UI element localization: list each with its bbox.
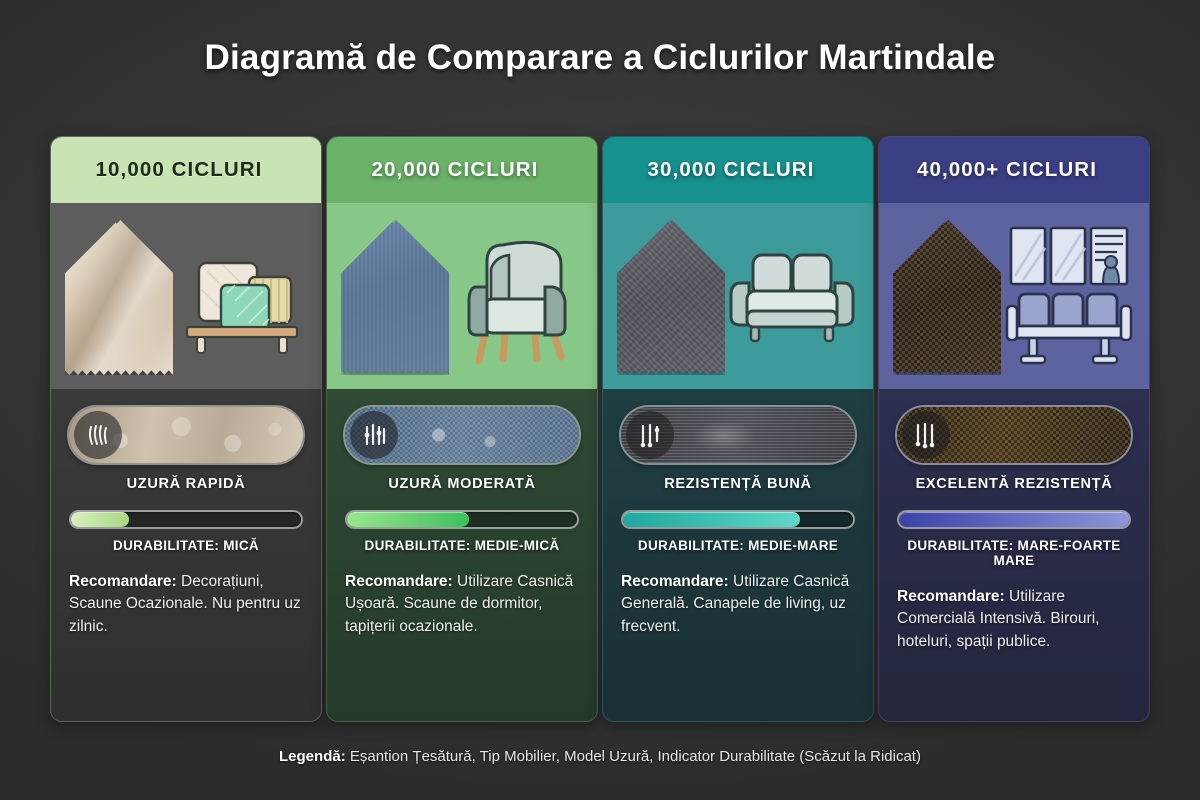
column-body-30000: REZISTENȚĂ BUNĂ DURABILITATE: MEDIE-MARE… [603,389,873,721]
wear-label: EXCELENTĂ REZISTENȚĂ [895,476,1133,492]
durability-bar-fill [347,512,469,527]
column-40000-cycles[interactable]: 40,000+ CICLURI [878,136,1150,722]
legend-text: Eșantion Țesătură, Tip Mobilier, Model U… [346,748,921,765]
wear-pattern-pill [619,405,857,465]
durability-label: DURABILITATE: MEDIE-MARE [621,538,855,553]
recommendation-prefix: Recomandare: [345,573,453,590]
comparison-columns: 10,000 CICLURI [50,136,1150,722]
durability-bar [897,510,1131,529]
column-body-40000: EXCELENTĂ REZISTENȚĂ DURABILITATE: MARE-… [879,389,1149,721]
armchair-icon [457,225,581,370]
durability-section: DURABILITATE: MARE-FOARTE MARE [879,492,1149,568]
illustration-panel-40000 [879,203,1149,389]
durability-bar-fill [899,512,1129,527]
column-header-label: 10,000 CICLURI [96,158,263,182]
durability-bar-fill [71,512,129,527]
column-header-label: 20,000 CICLURI [372,158,539,182]
durability-label: DURABILITATE: MARE-FOARTE MARE [897,538,1131,568]
illustration-panel-20000 [327,203,597,389]
decorative-pillows-icon [177,229,305,366]
wear-label: REZISTENȚĂ BUNĂ [619,476,857,492]
durability-bar-fill [623,512,800,527]
wear-label: UZURĂ MODERATĂ [343,476,581,492]
recommendation-prefix: Recomandare: [69,573,177,590]
legend-prefix: Legendă: [279,748,346,765]
illustration-panel-10000 [51,203,321,389]
legend: Legendă: Eșantion Țesătură, Tip Mobilier… [0,748,1200,765]
wear-pattern-pill [895,405,1133,465]
wear-section: EXCELENTĂ REZISTENȚĂ [879,389,1149,492]
column-body-10000: UZURĂ RAPIDĂ DURABILITATE: MICĂ Recomand… [51,389,321,721]
durability-section: DURABILITATE: MEDIE-MARE [603,492,873,553]
chevron-right-icon [868,137,874,203]
abrasion-marks-icon [902,411,950,459]
recommendation-prefix: Recomandare: [621,573,729,590]
column-header-label: 40,000+ CICLURI [917,158,1097,182]
durability-label: DURABILITATE: MEDIE-MICĂ [345,538,579,553]
column-header-30000: 30,000 CICLURI [603,137,873,203]
recommendation-text: Recomandare: Utilizare Casnică Ușoară. S… [327,553,597,654]
durability-bar [621,510,855,529]
chevron-right-icon [316,137,322,203]
recommendation-text: Recomandare: Utilizare Comercială Intens… [879,568,1149,669]
recommendation-prefix: Recomandare: [897,588,1005,605]
column-30000-cycles[interactable]: 30,000 CICLURI [602,136,874,722]
column-20000-cycles[interactable]: 20,000 CICLURI [326,136,598,722]
fabric-swatch-blue [341,219,449,375]
wear-pattern-pill [343,405,581,465]
durability-bar [69,510,303,529]
abrasion-marks-icon [626,411,674,459]
illustration-panel-30000 [603,203,873,389]
fabric-swatch-beige [65,219,173,375]
wear-section: UZURĂ MODERATĂ [327,389,597,492]
durability-bar [345,510,579,529]
durability-section: DURABILITATE: MEDIE-MICĂ [327,492,597,553]
column-header-20000: 20,000 CICLURI [327,137,597,203]
column-header-40000: 40,000+ CICLURI [879,137,1149,203]
wear-pattern-pill [67,405,305,465]
infographic-page: Diagramă de Comparare a Ciclurilor Marti… [0,0,1200,800]
fabric-swatch-charcoal [617,219,725,375]
page-title: Diagramă de Comparare a Ciclurilor Marti… [0,38,1200,78]
title-container: Diagramă de Comparare a Ciclurilor Marti… [0,38,1200,78]
column-body-20000: UZURĂ MODERATĂ DURABILITATE: MEDIE-MICĂ … [327,389,597,721]
abrasion-marks-icon [74,411,122,459]
waiting-room-seating-icon [1005,222,1133,373]
fabric-swatch-brown-woven [893,219,1001,375]
column-header-10000: 10,000 CICLURI [51,137,321,203]
wear-section: REZISTENȚĂ BUNĂ [603,389,873,492]
wear-label: UZURĂ RAPIDĂ [67,476,305,492]
chevron-right-icon [592,137,598,203]
sofa-icon [727,239,857,356]
durability-section: DURABILITATE: MICĂ [51,492,321,553]
wear-section: UZURĂ RAPIDĂ [51,389,321,492]
column-10000-cycles[interactable]: 10,000 CICLURI [50,136,322,722]
column-header-label: 30,000 CICLURI [648,158,815,182]
recommendation-text: Recomandare: Decorațiuni, Scaune Ocazion… [51,553,321,654]
durability-label: DURABILITATE: MICĂ [69,538,303,553]
abrasion-marks-icon [350,411,398,459]
recommendation-text: Recomandare: Utilizare Casnică Generală.… [603,553,873,654]
